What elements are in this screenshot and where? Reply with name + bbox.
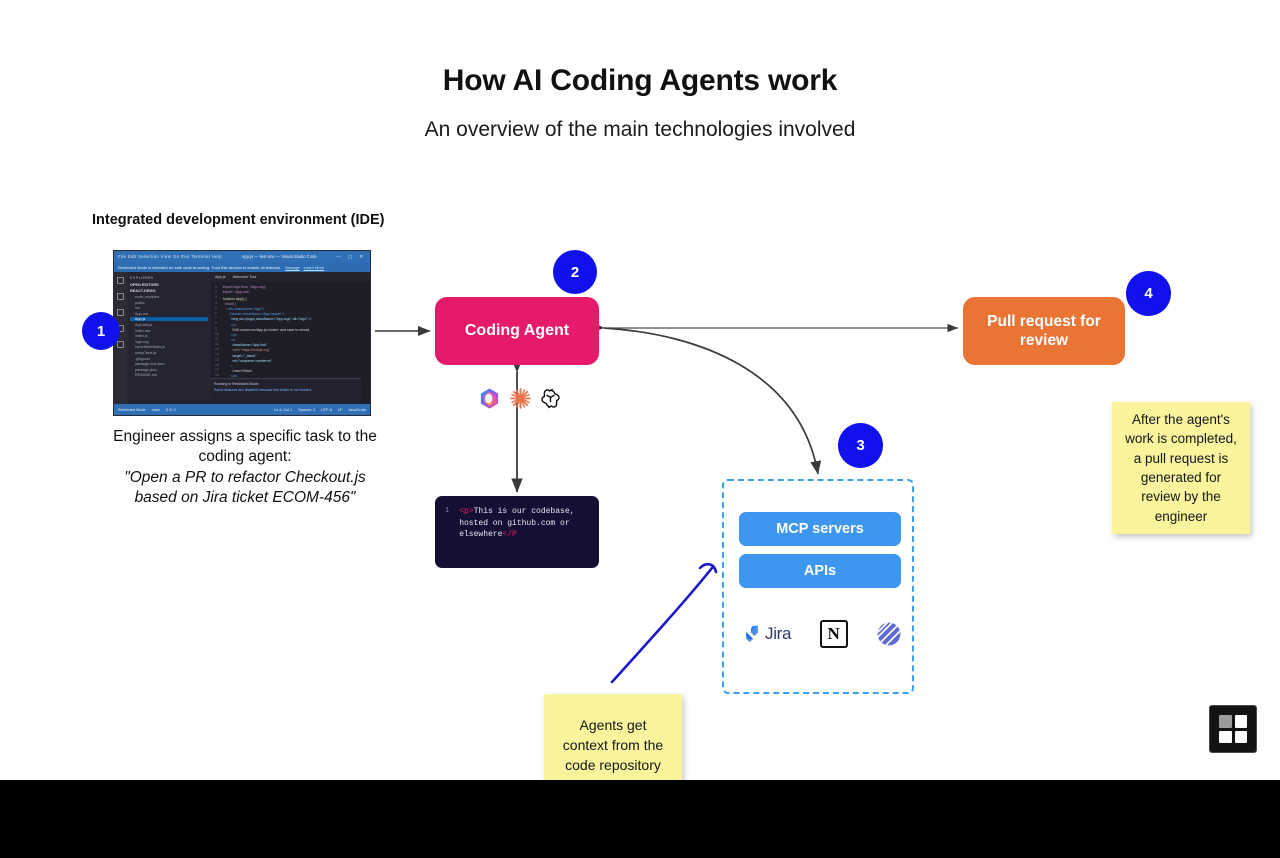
search-icon [117,293,124,300]
ide-code-line: <p> [223,323,312,327]
ide-code-line: <img src={logo} className="App-logo" alt… [223,317,312,321]
linear-logo [876,621,902,647]
ide-caption-quote-line-1: "Open a PR to refactor Checkout.js [100,468,390,488]
ide-tab-welcome: Welcome Tour [233,275,257,279]
ide-status-errors: 0 ⚠ 0 [166,407,176,412]
ide-code-line: rel="noopener noreferrer" [223,359,312,363]
ide-file-item: setupTests.js [135,351,208,355]
arrow-agent-to-mcp [604,328,818,474]
code-open-tag: <p> [459,507,473,516]
ide-window-title: App.js — test-one — Visual Studio Code [241,254,316,259]
ide-code-line: <a [223,338,312,342]
step-badge-2: 2 [553,250,597,294]
ide-caption-line-1: Engineer assigns a specific task to the [100,427,390,447]
step-badge-1: 1 [82,312,120,350]
external-apps-row: Jira N [740,614,902,654]
ide-code-line: return ( [223,302,312,306]
annotation-arrow-head [700,564,716,572]
annotation-arrow-sticky-to-mcp [612,568,712,682]
ide-code-line: import logo from './logo.svg'; [223,285,312,289]
ide-status-language: JavaScript [348,408,366,412]
ide-code-line: > [223,364,312,368]
ide-status-spaces: Spaces: 2 [298,408,315,412]
ide-file-item: App.css [135,312,208,316]
ide-caption: Engineer assigns a specific task to the … [100,427,390,509]
ide-code-line: href="https://reactjs.org" [223,348,312,352]
ide-file-item: package.json [135,368,208,372]
ide-caption-line-2: coding agent: [100,447,390,467]
agent-vendor-logos [478,384,562,412]
ide-menu-bar: File Edit Selection View Go Run Terminal… [118,254,222,259]
ide-file-item: package-lock.json [135,362,208,366]
apis-button[interactable]: APIs [739,554,901,588]
ide-titlebar: File Edit Selection View Go Run Terminal… [114,251,370,262]
ide-code-line: Edit <code>src/App.js</code> and save to… [223,328,312,332]
page-title: How AI Coding Agents work [0,64,1280,98]
ide-code-line: </p> [223,333,312,337]
ide-file-item: README.md [135,373,208,377]
brand-logo-cell [1235,731,1248,744]
ide-section-label: Integrated development environment (IDE) [92,212,384,228]
ide-file-item-selected: App.js [130,317,208,321]
ide-status-branch: main [152,408,160,412]
ide-status-cursor: Ln 4, Col 1 [274,408,292,412]
brand-logo-cell [1235,715,1248,728]
step-badge-3: 3 [838,423,883,468]
step-badge-4: 4 [1126,271,1171,316]
ide-window-buttons: — ▢ ✕ [336,254,366,260]
ide-status-eol: LF [338,408,342,412]
page-subtitle: An overview of the main technologies inv… [0,118,1280,142]
ide-panel-line-2: Some features are disabled because this … [214,388,358,392]
footer-bar [0,780,1280,858]
ide-editor-tabs: App.js Welcome Tour [211,272,370,282]
code-body-text: This is our codebase, hosted on github.c… [459,507,579,539]
ide-code-line: target="_blank" [223,354,312,358]
copilot-logo [478,387,501,410]
code-snippet-text: <p>This is our codebase, hosted on githu… [459,506,591,560]
ide-status-encoding: UTF-8 [321,408,332,412]
node-coding-agent[interactable]: Coding Agent [435,297,599,365]
ide-open-editors-group: OPEN EDITORS [130,283,208,287]
ide-notification-text: Restricted Mode is intended for safe cod… [118,265,281,270]
code-repository-snippet: 1 <p>This is our codebase, hosted on git… [435,496,599,568]
ide-sidebar: EXPLORER OPEN EDITORS REACT-DEMO node_mo… [127,272,211,404]
ide-code-line: <div className="App"> [223,307,312,311]
ide-code-line: <header className="App-header"> [223,312,312,316]
source-control-icon [117,309,124,316]
mcp-servers-button[interactable]: MCP servers [739,512,901,546]
jira-logo [740,623,762,645]
diagram-canvas: How AI Coding Agents work An overview of… [0,0,1280,858]
ide-file-item: App.test.js [135,323,208,327]
brand-logo-cell [1219,731,1232,744]
ide-tab-appjs: App.js [215,275,226,279]
ide-file-item: node_modules [135,295,208,299]
jira-label: Jira [765,624,791,644]
ide-file-item: index.js [135,334,208,338]
ide-file-item: .gitignore [135,357,208,361]
ide-code-line: function App() { [223,297,312,301]
ide-status-restricted: Restricted Mode [118,408,146,412]
ide-caption-quote-line-2: based on Jira ticket ECOM-456" [100,488,390,508]
ide-file-item: public [135,301,208,305]
ide-screenshot: File Edit Selection View Go Run Terminal… [113,250,371,416]
ide-body: EXPLORER OPEN EDITORS REACT-DEMO node_mo… [114,272,370,404]
ide-status-bar: Restricted Mode main 0 ⚠ 0 Ln 4, Col 1 S… [114,404,370,415]
ide-bottom-panel: Running in Restricted Mode. Some feature… [211,378,361,404]
ide-code-line: import './App.css'; [223,290,312,294]
ide-status-right: Ln 4, Col 1 Spaces: 2 UTF-8 LF JavaScrip… [274,408,366,412]
notion-logo: N [820,620,848,648]
ide-notification-learnmore-link: Learn More [304,265,324,270]
code-line-number: 1 [445,506,449,560]
extensions-icon [117,341,124,348]
ide-explorer-header: EXPLORER [130,276,208,280]
brand-logo-cell [1219,715,1232,728]
claude-logo [509,387,532,410]
ide-file-item: logo.svg [135,340,208,344]
ide-editor: App.js Welcome Tour 12345678910 11121314… [211,272,370,404]
sticky-note-pull-request: After the agent's work is completed, a p… [1112,402,1250,534]
mcp-apis-container: MCP servers APIs Jira N [722,479,914,694]
ide-notification-bar: Restricted Mode is intended for safe cod… [114,262,370,272]
explorer-icon [117,277,124,284]
ide-file-item: reportWebVitals.js [135,345,208,349]
ide-file-item: index.css [135,329,208,333]
node-pull-request[interactable]: Pull request for review [963,297,1125,365]
ide-code-line: className="App-link" [223,343,312,347]
openai-logo [539,387,562,410]
code-close-tag: </P [502,530,516,539]
ide-panel-line-1: Running in Restricted Mode. [214,382,358,386]
ide-code-line: Learn React [223,369,312,373]
brand-logo [1209,705,1257,753]
ide-notification-manage-link: Manage [285,265,299,270]
jira-app: Jira [740,623,791,645]
ide-project-group: REACT-DEMO [130,289,208,293]
ide-file-item: src [135,306,208,310]
